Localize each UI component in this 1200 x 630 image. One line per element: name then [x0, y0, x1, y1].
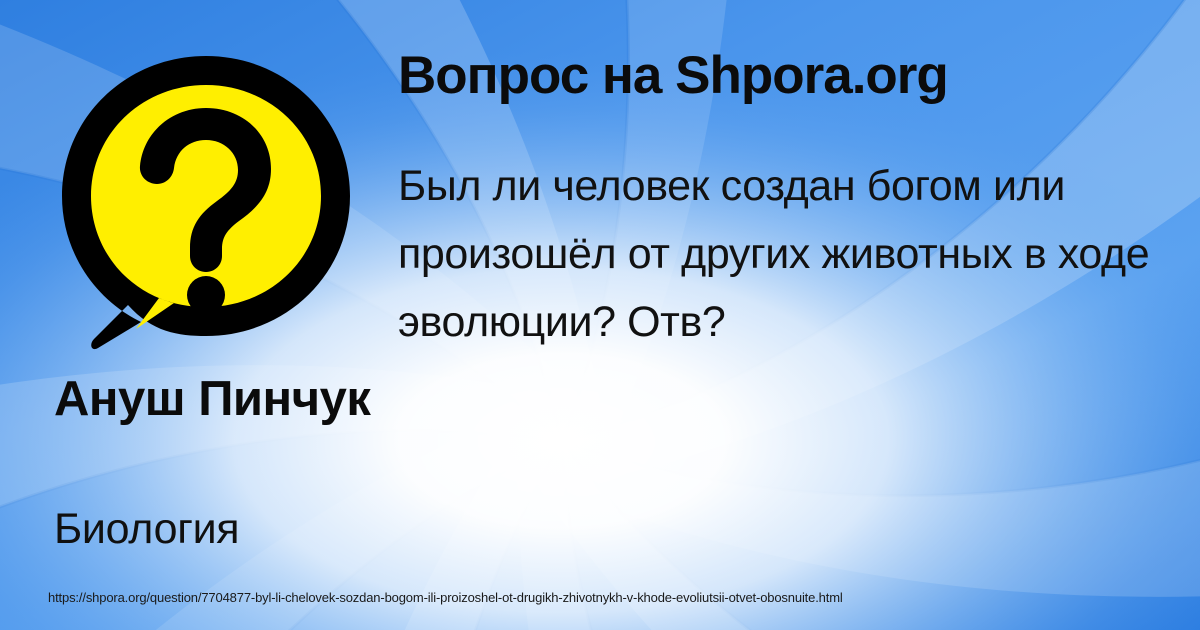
right-column: Вопрос на Shpora.org Был ли человек созд…: [398, 0, 1178, 630]
page-title: Вопрос на Shpora.org: [398, 46, 1178, 106]
author-name: Ануш Пинчук: [54, 374, 384, 425]
left-column: Ануш Пинчук Биология: [0, 0, 390, 630]
question-text: Был ли человек создан богом или произошё…: [398, 152, 1168, 356]
source-url[interactable]: https://shpora.org/question/7704877-byl-…: [48, 589, 843, 606]
question-share-card: Ануш Пинчук Биология Вопрос на Shpora.or…: [0, 0, 1200, 630]
subject-label: Биология: [54, 505, 384, 553]
question-speech-bubble-icon: [58, 52, 354, 352]
